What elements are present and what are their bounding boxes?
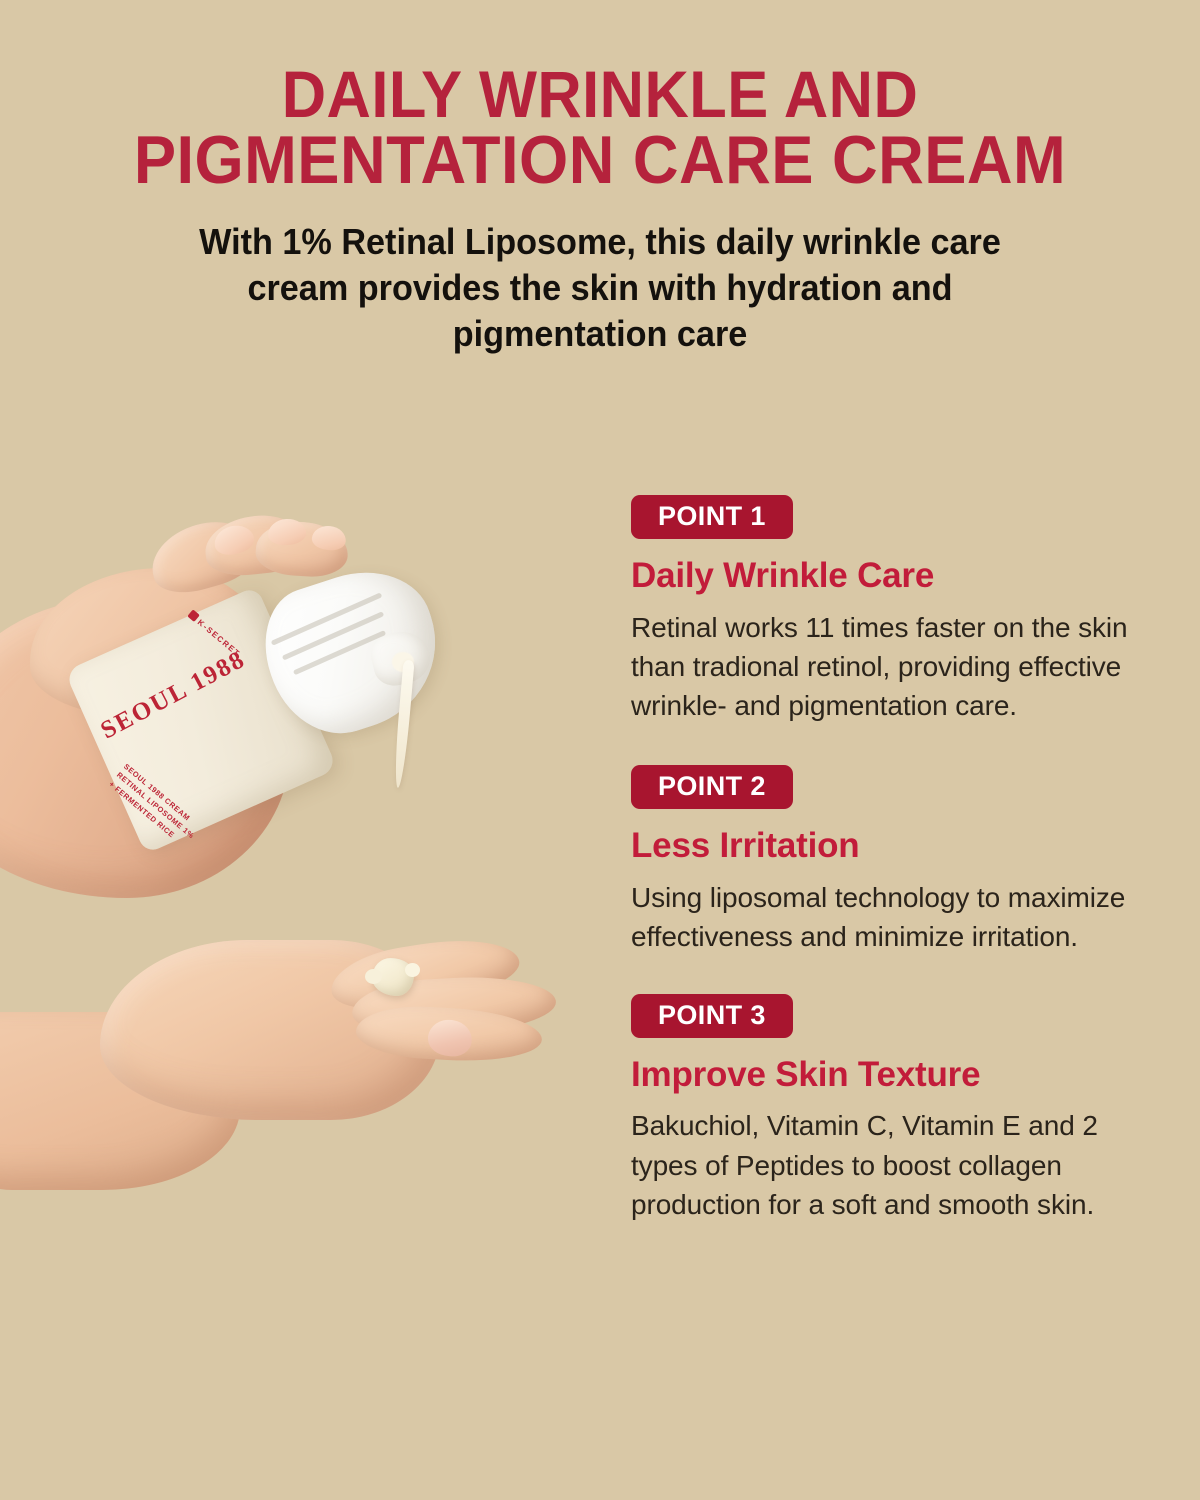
points-column: POINT 1 Daily Wrinkle Care Retinal works…: [631, 495, 1171, 1224]
page-title-line-1: DAILY WRINKLE AND: [51, 62, 1148, 127]
product-photo-column: SEOUL 1988 K-SECRET SEOUL 1988 CREAM RET…: [0, 430, 620, 1430]
bottle-brand-mark: K-SECRET: [187, 609, 243, 658]
point-2-badge: POINT 2: [631, 765, 793, 809]
point-3-title: Improve Skin Texture: [631, 1056, 1171, 1095]
page-subtitle-line-2: cream provides the skin with hydration a…: [125, 265, 1075, 311]
point-3-badge: POINT 3: [631, 994, 793, 1038]
point-1-body: Retinal works 11 times faster on the ski…: [631, 608, 1151, 726]
header: DAILY WRINKLE AND PIGMENTATION CARE CREA…: [0, 62, 1200, 358]
point-2-body: Using liposomal technology to maximize e…: [631, 878, 1161, 956]
page-title: DAILY WRINKLE AND PIGMENTATION CARE CREA…: [42, 62, 1158, 193]
page-title-line-2: PIGMENTATION CARE CREAM: [51, 127, 1148, 194]
infographic-page: DAILY WRINKLE AND PIGMENTATION CARE CREA…: [0, 0, 1200, 1500]
bottle-mark-text: K-SECRET: [196, 618, 242, 659]
cream-dollop: [372, 958, 414, 996]
page-subtitle: With 1% Retinal Liposome, this daily wri…: [125, 219, 1075, 357]
photo-open-palm-with-cream: [0, 900, 620, 1230]
point-3-body: Bakuchiol, Vitamin C, Vitamin E and 2 ty…: [631, 1106, 1161, 1224]
page-subtitle-line-1: With 1% Retinal Liposome, this daily wri…: [125, 219, 1075, 265]
photo-hand-holding-bottle: SEOUL 1988 K-SECRET SEOUL 1988 CREAM RET…: [0, 510, 620, 890]
point-1-badge: POINT 1: [631, 495, 793, 539]
point-1: POINT 1 Daily Wrinkle Care Retinal works…: [631, 495, 1171, 725]
point-2: POINT 2 Less Irritation Using liposomal …: [631, 765, 1171, 956]
point-3: POINT 3 Improve Skin Texture Bakuchiol, …: [631, 994, 1171, 1224]
point-1-title: Daily Wrinkle Care: [631, 557, 1171, 596]
point-2-title: Less Irritation: [631, 827, 1171, 866]
page-subtitle-line-3: pigmentation care: [125, 311, 1075, 357]
